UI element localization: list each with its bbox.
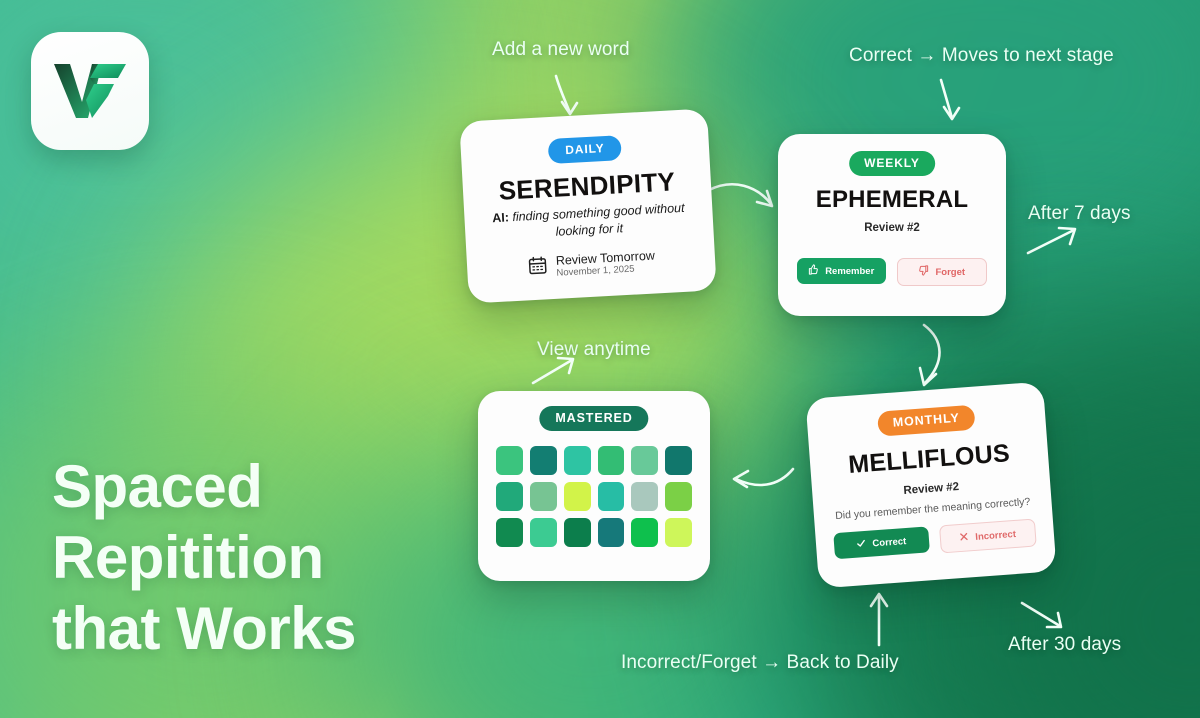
card-actions-ephemeral: Remember Forget [797, 258, 987, 286]
correct-button[interactable]: Correct [833, 526, 929, 559]
status-badge-daily: DAILY [548, 135, 623, 164]
definition-prefix: AI: [492, 210, 509, 225]
poster-canvas: Spaced Repitition that Works Add a new w… [0, 0, 1200, 718]
thumbs-up-icon [808, 264, 819, 278]
incorrect-button[interactable]: Incorrect [938, 518, 1036, 553]
mastered-swatch [598, 482, 625, 511]
status-badge-weekly: WEEKLY [849, 151, 935, 176]
mastered-swatch [564, 518, 591, 547]
card-word-ephemeral: EPHEMERAL [778, 186, 1006, 214]
annotation-add-new-word: Add a new word [492, 39, 630, 61]
headline-line-3: that Works [52, 594, 472, 665]
mastered-swatch [665, 446, 692, 475]
annotation-incorrect-back-daily: Incorrect/Forget → Back to Daily [621, 652, 899, 674]
page-headline: Spaced Repitition that Works [52, 452, 472, 664]
mastered-swatch [496, 482, 523, 511]
remember-button[interactable]: Remember [797, 258, 886, 284]
card-review-count-ephemeral: Review #2 [778, 222, 1006, 234]
status-badge-monthly: MONTHLY [877, 405, 976, 437]
card-review-footer: Review Tomorrow November 1, 2025 [467, 245, 716, 284]
mastered-swatch [598, 518, 625, 547]
status-badge-mastered: MASTERED [539, 406, 648, 431]
mastered-swatch [530, 446, 557, 475]
annotation-correct-next-stage: Correct → Moves to next stage [849, 45, 1114, 67]
annotation-after-7-days: After 7 days [1028, 203, 1131, 225]
mastered-swatch [530, 482, 557, 511]
forget-button-label: Forget [935, 267, 965, 278]
card-ephemeral[interactable]: WEEKLY EPHEMERAL Review #2 Remember [778, 134, 1006, 316]
mastered-swatch-grid [496, 446, 692, 547]
mastered-swatch [530, 518, 557, 547]
check-icon [856, 537, 867, 551]
card-word-mellifluous: MELLIFLOUS [809, 436, 1048, 482]
review-info: Review Tomorrow November 1, 2025 [555, 249, 655, 280]
card-serendipity[interactable]: DAILY SERENDIPITY AI: finding something … [459, 108, 716, 303]
app-logo [31, 32, 149, 150]
correct-button-label: Correct [872, 535, 907, 548]
card-mastered[interactable]: MASTERED [478, 391, 710, 581]
mastered-swatch [564, 446, 591, 475]
mastered-swatch [631, 446, 658, 475]
annotation-view-anytime: View anytime [537, 339, 651, 361]
mastered-swatch [564, 482, 591, 511]
calendar-icon [527, 254, 549, 281]
mastered-swatch [598, 446, 625, 475]
cross-icon [959, 531, 970, 545]
card-mellifluous[interactable]: MONTHLY MELLIFLOUS Review #2 Did you rem… [805, 382, 1056, 589]
mastered-swatch [665, 482, 692, 511]
mastered-swatch [631, 482, 658, 511]
headline-line-2: Repitition [52, 523, 472, 594]
mastered-swatch [496, 446, 523, 475]
mastered-swatch [496, 518, 523, 547]
definition-text: finding something good without looking f… [512, 201, 685, 239]
incorrect-button-label: Incorrect [975, 528, 1016, 542]
thumbs-down-icon [918, 265, 929, 279]
w-logo-icon [52, 60, 128, 122]
card-actions-mellifluous: Correct Incorrect [833, 518, 1037, 561]
annotation-after-30-days: After 30 days [1008, 634, 1121, 656]
headline-line-1: Spaced [52, 452, 472, 523]
remember-button-label: Remember [825, 266, 874, 277]
mastered-swatch [631, 518, 658, 547]
mastered-swatch [665, 518, 692, 547]
forget-button[interactable]: Forget [897, 258, 988, 286]
